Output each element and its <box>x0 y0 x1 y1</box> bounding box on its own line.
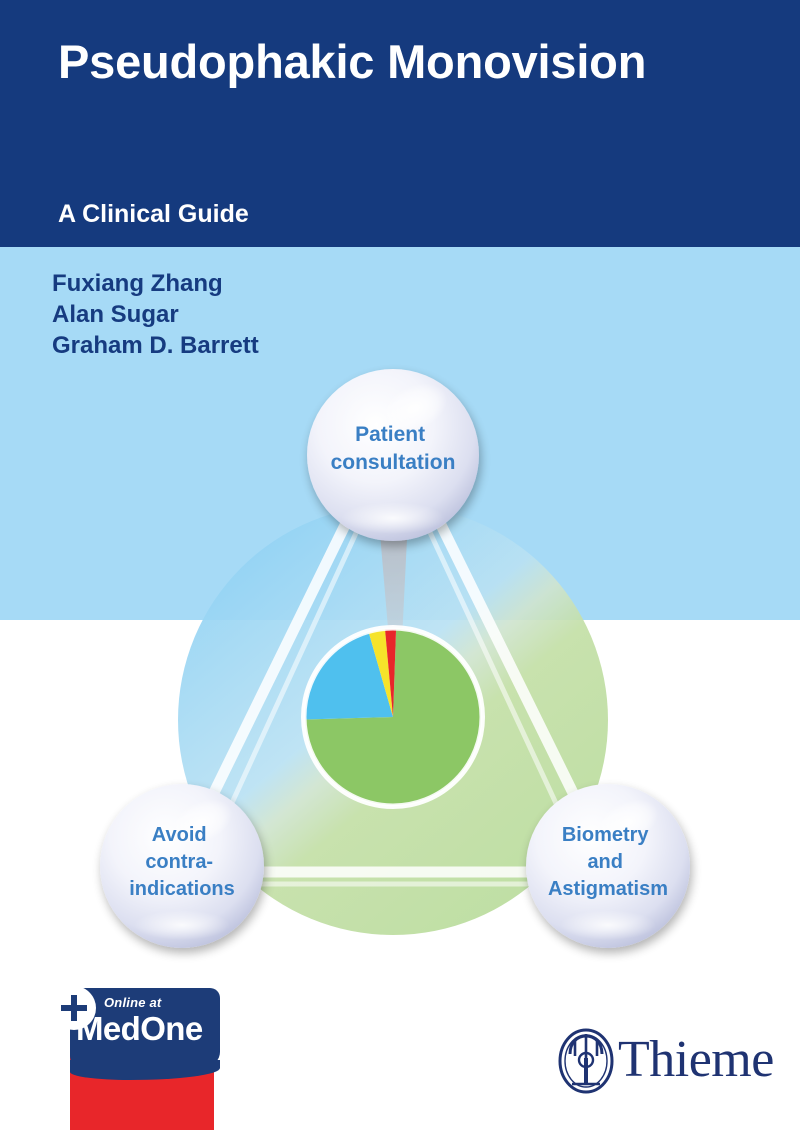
author-list: Fuxiang Zhang Alan Sugar Graham D. Barre… <box>52 268 259 362</box>
concept-diagram: Patient consultation Avoid contra- indic… <box>0 0 800 1130</box>
medone-wordmark: MedOne <box>76 1010 203 1048</box>
book-cover: Pseudophakic Monovision A Clinical Guide… <box>0 0 800 1130</box>
thieme-tree-emblem <box>556 1028 616 1094</box>
book-subtitle: A Clinical Guide <box>58 200 249 229</box>
author-name: Fuxiang Zhang <box>52 268 259 299</box>
pie-chart <box>301 625 485 809</box>
thieme-logo[interactable]: Thieme <box>556 1022 756 1094</box>
thieme-wordmark: Thieme <box>618 1030 774 1089</box>
plus-icon <box>52 986 96 1030</box>
medone-logo[interactable]: Online at MedOne <box>52 988 220 1130</box>
book-title: Pseudophakic Monovision <box>58 36 768 89</box>
medone-online-label: Online at <box>104 995 161 1010</box>
author-name: Alan Sugar <box>52 299 259 330</box>
author-name: Graham D. Barrett <box>52 330 259 361</box>
